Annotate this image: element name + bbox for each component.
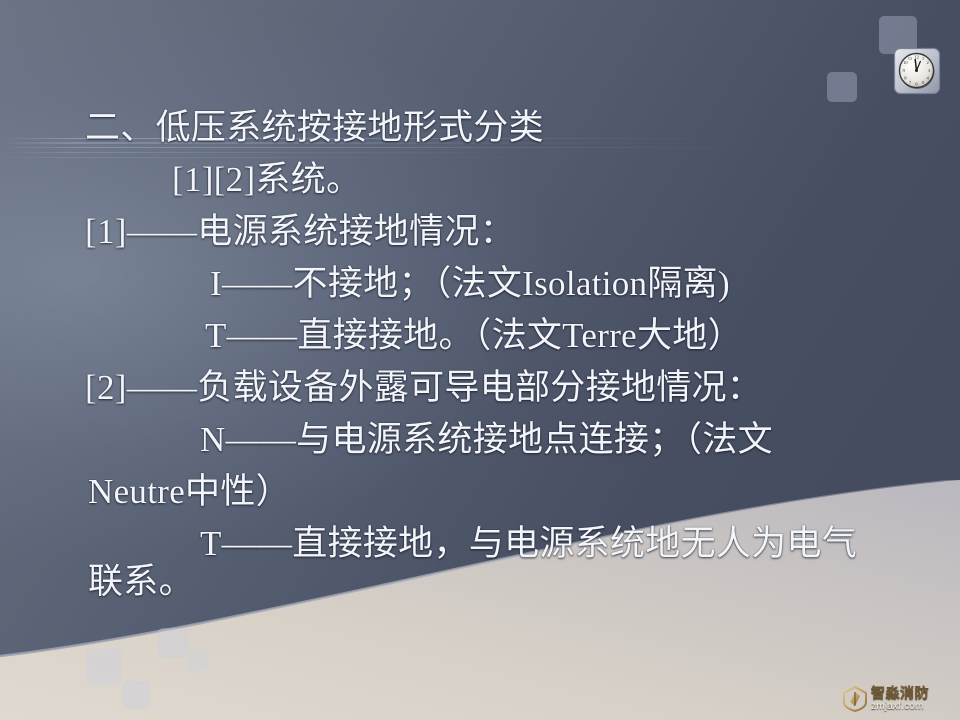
watermark-brand: 智淼消防 bbox=[871, 686, 929, 700]
line-item-t-1: T——直接接地。（法文Terre大地） bbox=[205, 311, 743, 361]
line-bracket-2: [2]——负载设备外露可导电部分接地情况： bbox=[85, 363, 762, 413]
line-item-n-continuation: Neutre中性） bbox=[88, 467, 291, 517]
line-item-i: I——不接地；（法文Isolation隔离) bbox=[210, 259, 730, 309]
watermark: 智淼消防 zmjaxf.com bbox=[842, 682, 954, 716]
slide-canvas: 12 1 2 3 4 5 6 7 8 9 10 11 二、低压系统按接地形式分类… bbox=[0, 0, 960, 720]
line-systems: [1][2]系统。 bbox=[172, 155, 361, 205]
slide-title: 二、低压系统按接地形式分类 bbox=[85, 103, 544, 153]
line-item-n: N——与电源系统接地点连接；（法文 bbox=[200, 415, 773, 465]
watermark-url: zmjaxf.com bbox=[871, 702, 929, 712]
shield-diamond-logo-icon bbox=[842, 686, 868, 712]
line-bracket-1: [1]——电源系统接地情况： bbox=[85, 207, 515, 257]
line-item-t-2: T——直接接地，与电源系统地无人为电气 bbox=[200, 519, 857, 569]
slide-text-content: 二、低压系统按接地形式分类 [1][2]系统。 [1]——电源系统接地情况： I… bbox=[0, 0, 960, 720]
line-item-t-2-continuation: 联系。 bbox=[88, 557, 194, 607]
